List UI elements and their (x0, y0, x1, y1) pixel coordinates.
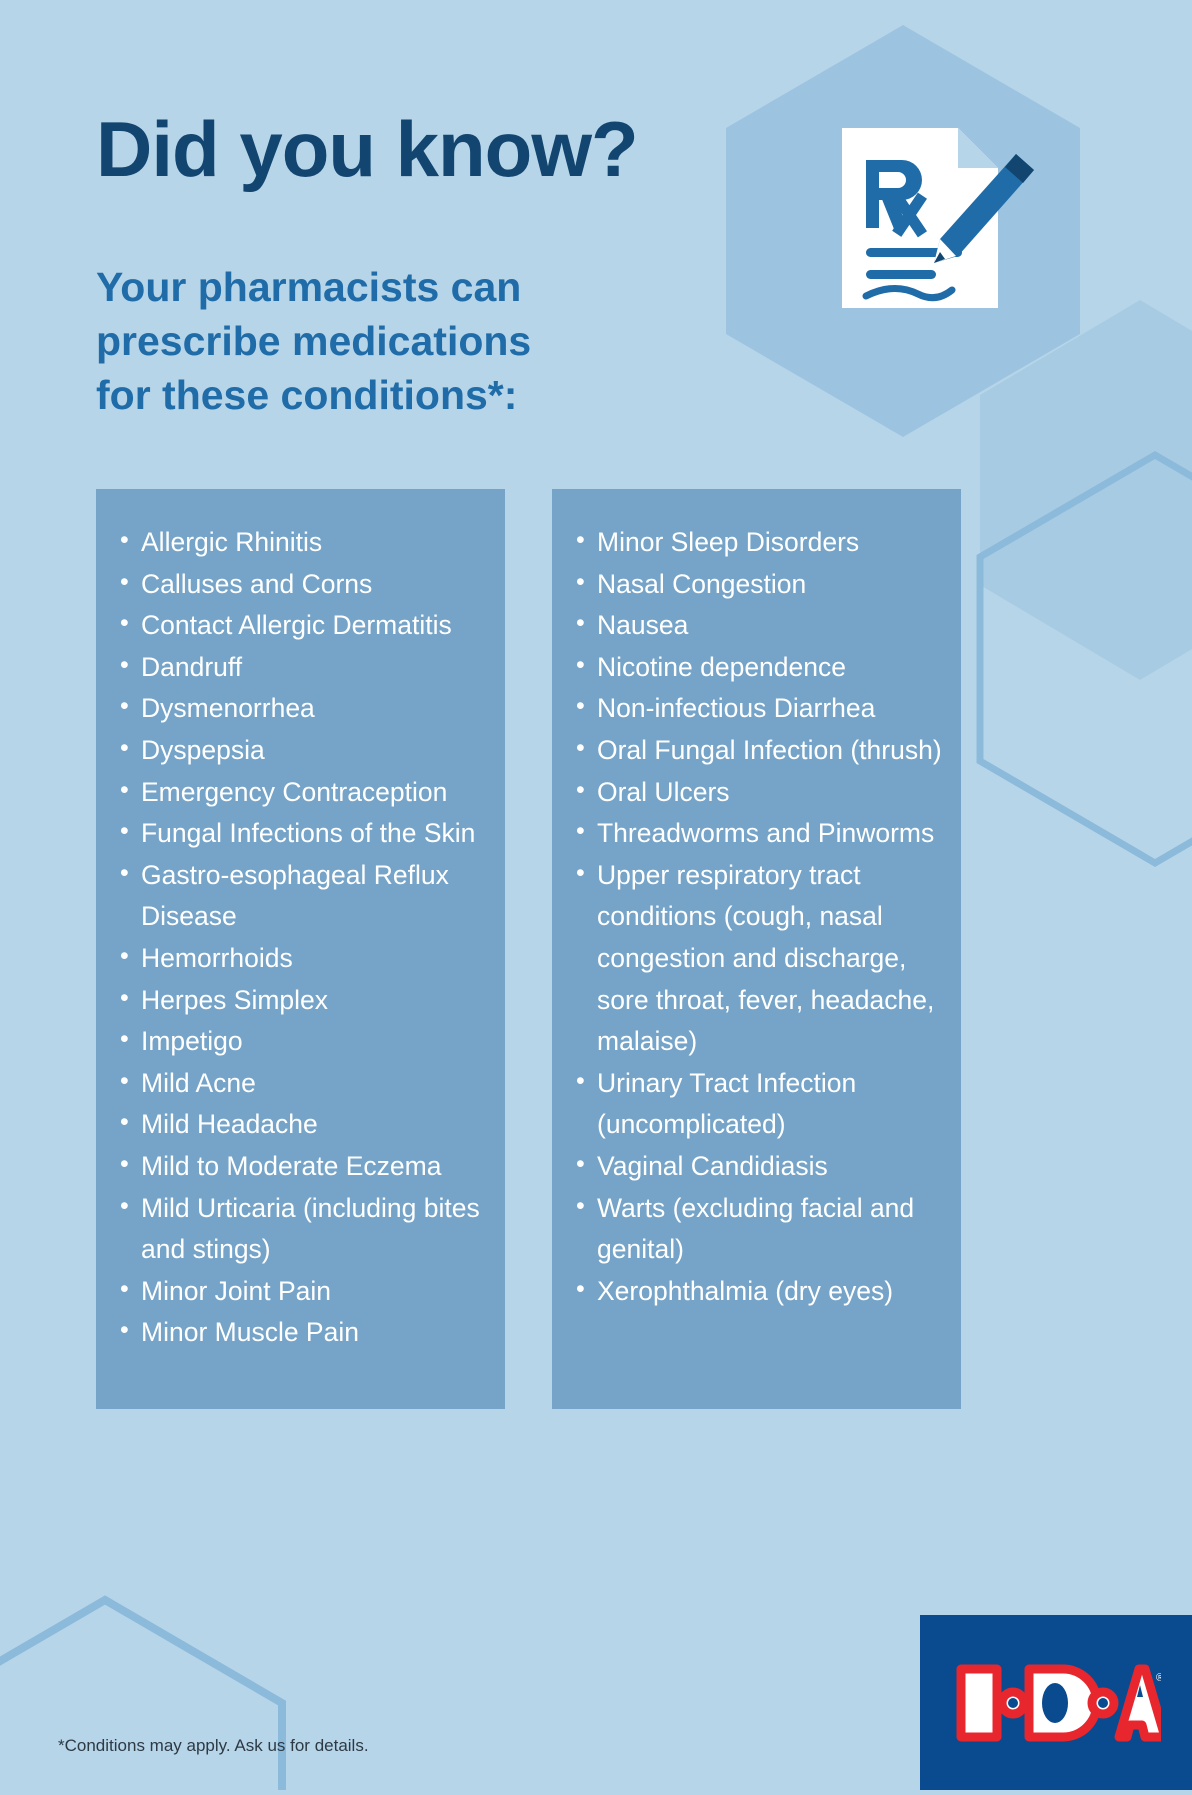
hexagon-outline-bottom-left (0, 1600, 282, 1790)
page-subtitle: Your pharmacists can prescribe medicatio… (96, 188, 796, 422)
condition-list-item: Dandruff (114, 647, 487, 689)
condition-list-item: Oral Ulcers (570, 772, 943, 814)
conditions-panel-left: Allergic RhinitisCalluses and CornsConta… (96, 489, 505, 1409)
condition-list-item: Oral Fungal Infection (thrush) (570, 730, 943, 772)
subtitle-line-2: prescribe medications (96, 318, 531, 364)
condition-list-item: Mild Urticaria (including bites and stin… (114, 1188, 487, 1271)
condition-list-item: Xerophthalmia (dry eyes) (570, 1271, 943, 1313)
condition-list-item: Dyspepsia (114, 730, 487, 772)
conditions-panel-right: Minor Sleep DisordersNasal CongestionNau… (552, 489, 961, 1409)
condition-list-item: Threadworms and Pinworms (570, 813, 943, 855)
condition-list-item: Calluses and Corns (114, 564, 487, 606)
disclaimer-footnote: *Conditions may apply. Ask us for detail… (58, 1736, 369, 1756)
conditions-list-left: Allergic RhinitisCalluses and CornsConta… (114, 522, 487, 1354)
condition-list-item: Vaginal Candidiasis (570, 1146, 943, 1188)
ida-logo-mark: ® (951, 1655, 1161, 1751)
condition-list-item: Mild Headache (114, 1104, 487, 1146)
registered-trademark-symbol: ® (1156, 1672, 1161, 1684)
subtitle-line-1: Your pharmacists can (96, 264, 521, 310)
condition-list-item: Warts (excluding facial and genital) (570, 1188, 943, 1271)
condition-list-item: Mild to Moderate Eczema (114, 1146, 487, 1188)
condition-list-item: Nausea (570, 605, 943, 647)
condition-list-item: Gastro-esophageal Reflux Disease (114, 855, 487, 938)
condition-list-item: Herpes Simplex (114, 980, 487, 1022)
condition-list-item: Minor Muscle Pain (114, 1312, 487, 1354)
condition-list-item: Mild Acne (114, 1063, 487, 1105)
condition-list-item: Minor Sleep Disorders (570, 522, 943, 564)
condition-list-item: Emergency Contraception (114, 772, 487, 814)
condition-list-item: Nasal Congestion (570, 564, 943, 606)
ida-logo: ® (920, 1615, 1192, 1790)
condition-list-item: Fungal Infections of the Skin (114, 813, 487, 855)
condition-list-item: Nicotine dependence (570, 647, 943, 689)
condition-list-item: Upper respiratory tract conditions (coug… (570, 855, 943, 1063)
condition-list-item: Impetigo (114, 1021, 487, 1063)
rx-prescription-pen-icon (830, 118, 1040, 318)
condition-list-item: Hemorrhoids (114, 938, 487, 980)
subtitle-line-3: for these conditions*: (96, 372, 517, 418)
condition-list-item: Allergic Rhinitis (114, 522, 487, 564)
condition-list-item: Non-infectious Diarrhea (570, 688, 943, 730)
condition-list-item: Dysmenorrhea (114, 688, 487, 730)
condition-list-item: Minor Joint Pain (114, 1271, 487, 1313)
conditions-panels: Allergic RhinitisCalluses and CornsConta… (96, 489, 1096, 1409)
condition-list-item: Urinary Tract Infection (uncomplicated) (570, 1063, 943, 1146)
header: Did you know? Your pharmacists can presc… (96, 110, 796, 422)
condition-list-item: Contact Allergic Dermatitis (114, 605, 487, 647)
conditions-list-right: Minor Sleep DisordersNasal CongestionNau… (570, 522, 943, 1312)
page-title: Did you know? (96, 110, 796, 188)
